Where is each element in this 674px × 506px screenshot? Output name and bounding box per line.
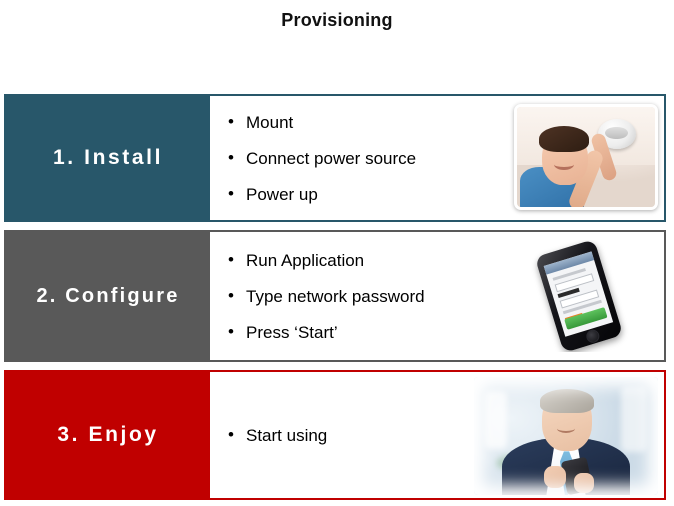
hand-shape [544, 466, 566, 488]
list-item: Mount [228, 114, 416, 131]
page-title: Provisioning [0, 10, 674, 31]
step-content-enjoy: Start using [210, 372, 664, 498]
hand-shape [574, 473, 594, 493]
bullet-list-install: Mount Connect power source Power up [210, 114, 416, 203]
photo-smartphone-app-form [526, 240, 630, 352]
smartphone-shape [535, 240, 624, 352]
photo-man-mounting-smoke-detector [514, 104, 658, 210]
step-content-install: Mount Connect power source Power up [210, 96, 664, 220]
step-label-enjoy: 3. Enjoy [6, 372, 210, 498]
step-row-install: 1. Install Mount Connect power source Po… [4, 94, 666, 222]
list-item: Connect power source [228, 150, 416, 167]
list-item: Type network password [228, 288, 425, 305]
background-blur-shape [621, 386, 647, 452]
step-content-configure: Run Application Type network password Pr… [210, 232, 664, 360]
phone-screen [544, 251, 613, 336]
photo-businessman-using-phone [474, 377, 658, 495]
hair-shape [539, 126, 589, 152]
step-row-configure: 2. Configure Run Application Type networ… [4, 230, 666, 362]
hair-shape [540, 389, 594, 413]
step-label-install: 1. Install [6, 96, 210, 220]
list-item: Press ‘Start’ [228, 324, 425, 341]
home-button-icon [585, 328, 601, 344]
bullet-list-configure: Run Application Type network password Pr… [210, 252, 425, 341]
bullet-list-enjoy: Start using [210, 427, 327, 444]
list-item: Run Application [228, 252, 425, 269]
app-titlebar [544, 251, 594, 274]
list-item: Start using [228, 427, 327, 444]
step-label-configure: 2. Configure [6, 232, 210, 360]
list-item: Power up [228, 186, 416, 203]
background-blur-shape [485, 391, 507, 449]
step-row-enjoy: 3. Enjoy Start using [4, 370, 666, 500]
